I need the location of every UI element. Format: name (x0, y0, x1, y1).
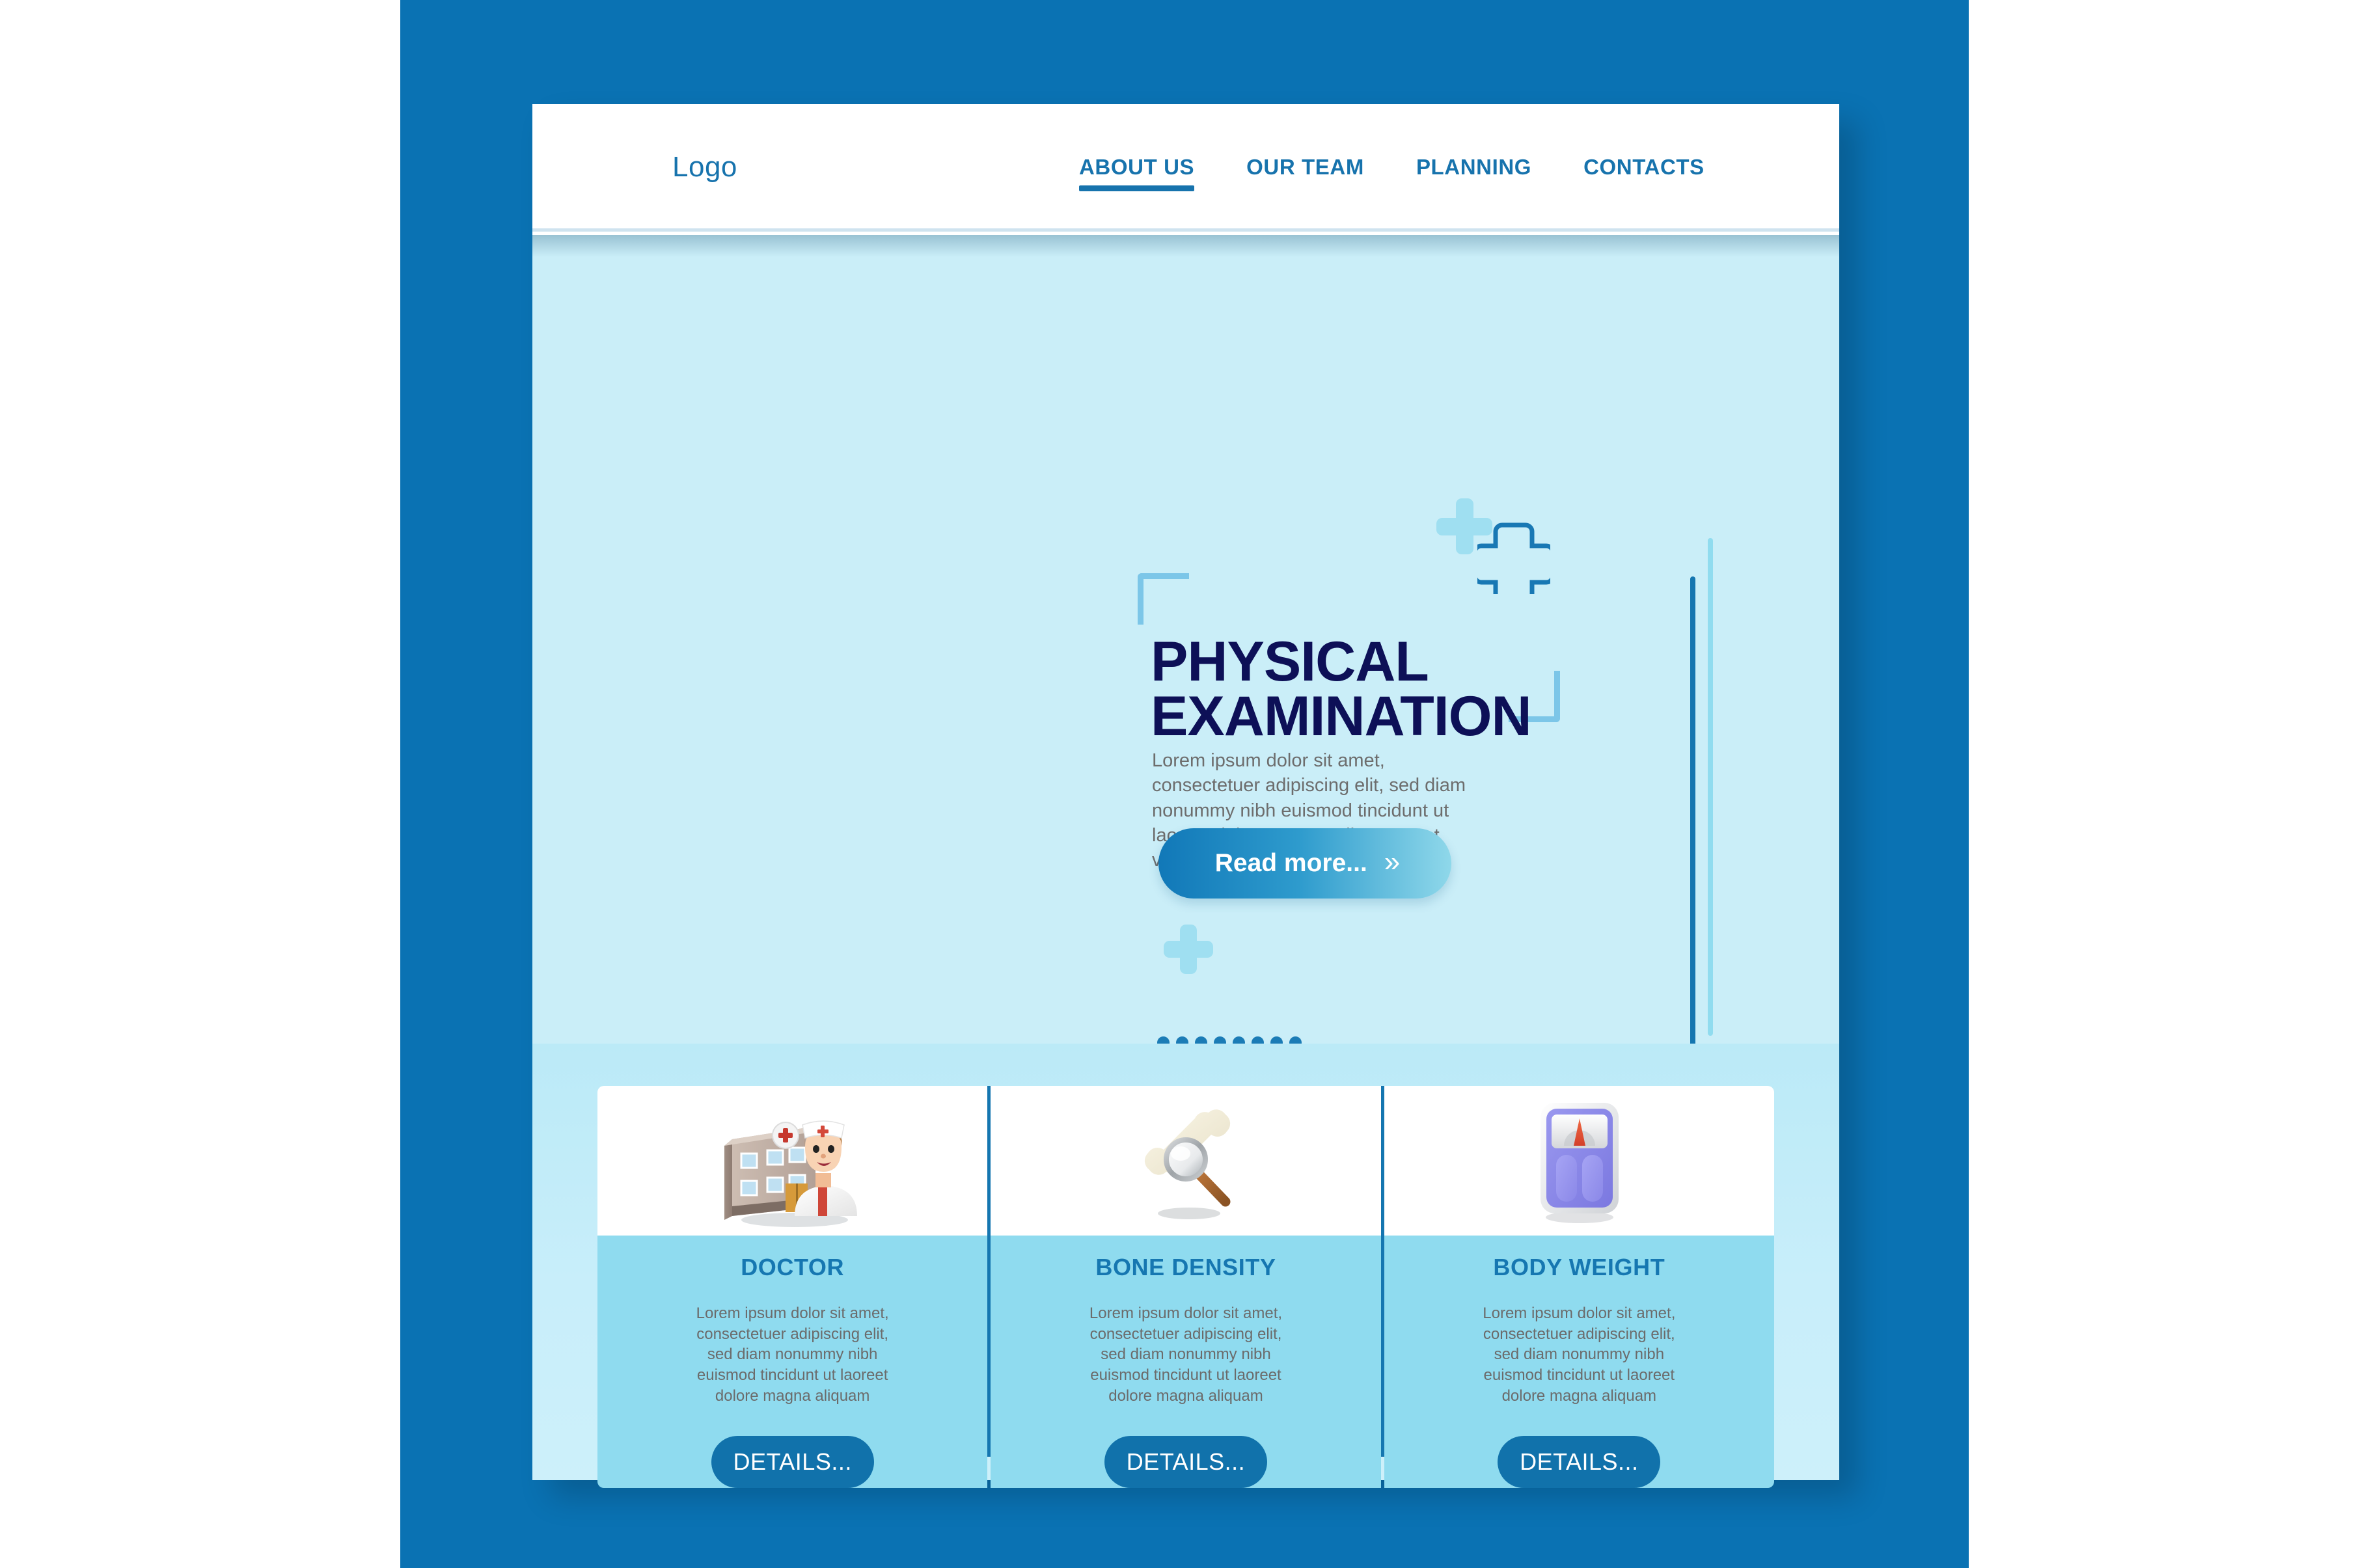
dot-grid-decoration (1157, 1036, 1308, 1044)
bathroom-scale-icon (1504, 1086, 1654, 1236)
feature-card-image-area (991, 1086, 1380, 1236)
cross-outline-icon (1477, 521, 1550, 594)
main-nav: ABOUT US OUR TEAM PLANNING CONTACTS (1079, 155, 1705, 191)
grid-dot (1157, 1036, 1170, 1044)
feature-card-bone-density[interactable]: BONE DENSITY Lorem ipsum dolor sit amet,… (991, 1086, 1380, 1457)
feature-card-body: BONE DENSITY Lorem ipsum dolor sit amet,… (991, 1236, 1380, 1488)
nav-item-our-team[interactable]: OUR TEAM (1246, 155, 1364, 191)
feature-card-image-area (597, 1086, 987, 1236)
feature-card-body: BODY WEIGHT Lorem ipsum dolor sit amet, … (1384, 1236, 1774, 1488)
feature-cards: DOCTOR Lorem ipsum dolor sit amet, conse… (597, 1086, 1774, 1457)
nav-item-about-us[interactable]: ABOUT US (1079, 155, 1194, 191)
vertical-divider-light (1708, 538, 1713, 1036)
grid-dot (1289, 1036, 1302, 1044)
feature-card-body: DOCTOR Lorem ipsum dolor sit amet, conse… (597, 1236, 987, 1488)
hero-section: PHYSICAL EXAMINATION Lorem ipsum dolor s… (532, 235, 1839, 1044)
details-button-bone-density[interactable]: DETAILS... (1104, 1436, 1267, 1488)
feature-card-title: DOCTOR (741, 1254, 844, 1281)
feature-card-doctor[interactable]: DOCTOR Lorem ipsum dolor sit amet, conse… (597, 1086, 987, 1457)
bone-with-magnifier-icon (1111, 1086, 1261, 1236)
grid-dot (1270, 1036, 1283, 1044)
grid-dot (1252, 1036, 1264, 1044)
feature-card-text: Lorem ipsum dolor sit amet, consectetuer… (1468, 1303, 1690, 1406)
nav-item-planning[interactable]: PLANNING (1416, 155, 1531, 191)
nav-item-contacts[interactable]: CONTACTS (1583, 155, 1705, 191)
details-button-body-weight[interactable]: DETAILS... (1498, 1436, 1660, 1488)
chevron-double-right-icon: » (1384, 846, 1395, 878)
grid-dot (1233, 1036, 1245, 1044)
hero-title-line-2: EXAMINATION (1151, 689, 1606, 744)
grid-dot (1214, 1036, 1226, 1044)
feature-card-text: Lorem ipsum dolor sit amet, consectetuer… (1075, 1303, 1296, 1406)
grid-dot (1195, 1036, 1207, 1044)
feature-card-image-area (1384, 1086, 1774, 1236)
hero-top-shadow (532, 235, 1839, 257)
site-header: Logo ABOUT US OUR TEAM PLANNING CONTACTS (532, 104, 1839, 232)
website-sheet: Logo ABOUT US OUR TEAM PLANNING CONTACTS (532, 104, 1839, 1480)
details-button-doctor[interactable]: DETAILS... (711, 1436, 874, 1488)
cross-filled-small-icon (1164, 925, 1213, 974)
logo[interactable]: Logo (672, 151, 737, 183)
feature-card-title: BODY WEIGHT (1493, 1254, 1665, 1281)
grid-dot (1176, 1036, 1188, 1044)
corner-bracket-top-left (1138, 573, 1189, 625)
vertical-divider-dark (1690, 576, 1695, 1044)
feature-card-title: BONE DENSITY (1095, 1254, 1276, 1281)
hospital-building-with-doctor-icon (718, 1086, 868, 1236)
feature-card-text: Lorem ipsum dolor sit amet, consectetuer… (682, 1303, 903, 1406)
feature-card-body-weight[interactable]: BODY WEIGHT Lorem ipsum dolor sit amet, … (1384, 1086, 1774, 1457)
hero-title: PHYSICAL EXAMINATION (1151, 634, 1606, 744)
hero-title-line-1: PHYSICAL (1151, 630, 1429, 693)
read-more-label: Read more... (1215, 849, 1367, 878)
features-section: DOCTOR Lorem ipsum dolor sit amet, conse… (532, 1044, 1839, 1480)
read-more-button[interactable]: Read more... » (1158, 828, 1451, 899)
